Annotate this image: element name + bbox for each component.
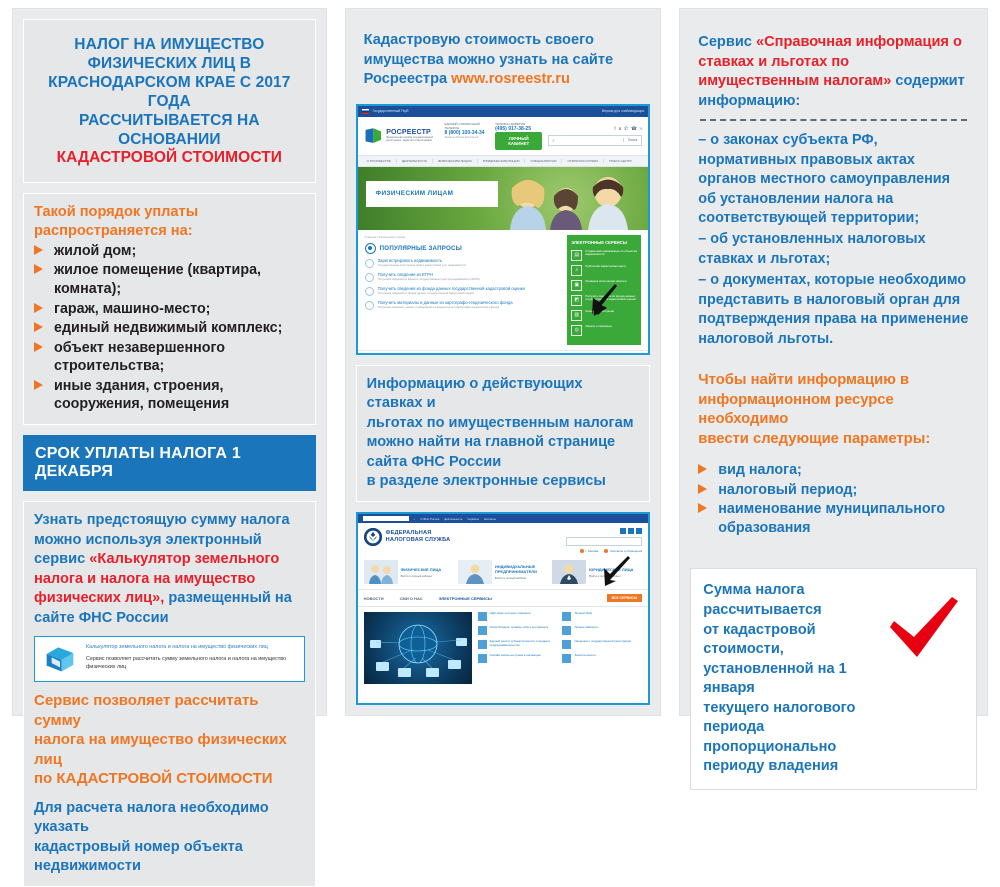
rosreestr-intro-line-3: Росреестра www.rosreestr.ru — [364, 70, 643, 90]
fns-top-link[interactable]: Контакты — [484, 517, 496, 521]
params-list: вид налога; налоговый период; наименован… — [698, 461, 969, 537]
hero-title: ФИЗИЧЕСКИМ ЛИЦАМ — [376, 190, 454, 197]
region-link[interactable]: г. Москва — [580, 549, 599, 553]
brochure-page: НАЛОГ НА ИМУЩЕСТВО ФИЗИЧЕСКИХ ЛИЦ В КРАС… — [0, 0, 1000, 724]
service-label: Заплати налоги — [574, 654, 595, 663]
popular-queries-section: Главная / Физическим лицам ПОПУЛЯРНЫЕ ЗА… — [365, 235, 562, 345]
list-item-label: единый недвижимый комплекс; — [54, 320, 282, 336]
params-heading-line-2: информационном ресурсе необходимо — [698, 391, 969, 430]
arrow-bullet-icon — [34, 245, 43, 255]
fns-top-link[interactable]: ⌕ — [414, 517, 416, 521]
calculator-panel: Узнать предстоящую сумму налога можно ис… — [23, 501, 316, 887]
accessibility-link[interactable]: Версия для слабовидящих — [602, 109, 644, 113]
service-item[interactable]: ▤Справочная информация по объектам недви… — [571, 250, 637, 261]
fns-intro: Информацию о действующих ставках и льгот… — [367, 375, 640, 492]
summary-line-5: пропорционально периоду владения — [703, 738, 899, 777]
rosreestr-header: РОСРЕЕСТР Федеральная служба государстве… — [358, 117, 649, 155]
vk-icon[interactable]: в — [619, 126, 621, 131]
service-item[interactable]: ⌕Публичная кадастровая карта — [571, 265, 637, 276]
marker-icon — [580, 549, 584, 553]
service-item[interactable]: Сведения о государственной регистрации — [562, 640, 642, 649]
situations-icon: ▥ — [571, 310, 582, 321]
list-item: – о документах, которые необходимо предс… — [698, 271, 969, 349]
calculator-widget[interactable]: Калькулятор земельного налога и налога н… — [34, 636, 305, 682]
scope-list: жилой дом; жилое помещение (квартира, ко… — [34, 242, 305, 414]
personal-cabinet-button[interactable]: ЛИЧНЫЙ КАБИНЕТ — [495, 132, 542, 150]
target-icon — [365, 243, 376, 254]
fns-top-link[interactable]: Деятельность — [444, 517, 462, 521]
list-item[interactable]: Зарегистрировать недвижимость Государств… — [365, 258, 562, 268]
nav-item[interactable]: ФИЗИЧЕСКИМ ЛИЦАМ — [433, 159, 478, 163]
database-icon: ◩ — [571, 295, 582, 306]
fns-top-link[interactable]: О ФНС России — [420, 517, 439, 521]
nav-item[interactable]: ПРЕСС-ЦЕНТР — [604, 159, 636, 163]
service-info-panel: Сервис «Справочная информация о ставках … — [690, 19, 977, 351]
phone-1-note: Звонок по России бесплатный — [445, 136, 488, 139]
red-checkmark-icon — [884, 597, 962, 659]
list-item[interactable]: Получить материалы и данные из картограф… — [365, 300, 562, 310]
service-label: Справочная информация по объектам недвиж… — [585, 250, 637, 257]
popular-item-desc: Государственная регистрация прав и кадас… — [378, 264, 466, 268]
arrow-bullet-icon — [34, 264, 43, 274]
category-entrepreneurs[interactable]: ИНДИВИДУАЛЬНЫЕ ПРЕДПРИНИМАТЕЛИ Войти в л… — [458, 560, 548, 584]
pointer-arrow-icon — [590, 284, 620, 318]
right-column: Сервис «Справочная информация о ставках … — [679, 8, 988, 716]
entrepreneurs-photo — [458, 560, 492, 584]
list-item: – об установленных налоговых ставках и л… — [698, 230, 969, 269]
service-item[interactable]: Личный ИНН — [562, 612, 642, 621]
category-name: ИНДИВИДУАЛЬНЫЕ ПРЕДПРИНИМАТЕЛИ — [495, 564, 548, 574]
category-name: ФИЗИЧЕСКИЕ ЛИЦА — [401, 567, 442, 572]
category-link[interactable]: Войти в личный кабинет — [495, 576, 548, 580]
arrow-bullet-icon — [34, 380, 43, 390]
calculator-intro: Узнать предстоящую сумму налога можно ис… — [34, 511, 305, 628]
fns-services-grid: НДС-офис интернет компании Риски бизнеса… — [478, 612, 643, 684]
rosreestr-intro-panel: Кадастровую стоимость своего имущества м… — [356, 19, 651, 94]
cadastral-note-line-1: Для расчета налога необходимо указать — [34, 799, 305, 838]
list-item-label: жилой дом; — [54, 243, 136, 259]
twitter-icon[interactable] — [636, 528, 642, 534]
list-item: вид налога; — [698, 461, 969, 480]
nav-item[interactable]: СПЕЦИАЛИСТАМ — [525, 159, 562, 163]
service-label: Онлайн запись на прием в инспекцию — [490, 654, 541, 663]
fns-tabs[interactable]: НОВОСТИ СМИ О НАС ЭЛЕКТРОННЫЕ СЕРВИСЫ ВС… — [358, 589, 649, 607]
popular-item-desc: Получение сведений из фонда данных госуд… — [378, 292, 525, 296]
rosreestr-website-screenshot[interactable]: Государственный Герб Версия для слабовид… — [356, 104, 651, 355]
search-button[interactable]: Поиск — [623, 138, 641, 142]
list-item-label: гараж, машино-место; — [54, 301, 210, 317]
popular-item-title: Получить сведения из фонда данных госуда… — [378, 286, 525, 291]
category-individuals[interactable]: ФИЗИЧЕСКИЕ ЛИЦА Войти в личный кабинет — [364, 560, 454, 584]
all-services-button[interactable]: ВСЕ СЕРВИСЫ — [607, 594, 643, 602]
hero-title-card: ФИЗИЧЕСКИМ ЛИЦАМ — [366, 181, 498, 207]
service-label: НДС-офис интернет компании — [490, 612, 531, 621]
appointment-icon — [478, 654, 487, 663]
phone-1-number: 8 (800) 100-34-34 — [445, 130, 488, 136]
fns-topbar: ⌕ О ФНС России Деятельность Сервисы Конт… — [358, 514, 649, 523]
rosreestr-footer — [358, 350, 649, 355]
document-check-icon: ▣ — [571, 280, 582, 291]
rosreestr-phone-2: ТЕЛЕФОН ДОВЕРИЯ (495) 917-38-25 ЛИЧНЫЙ К… — [495, 122, 542, 150]
pay-taxes-icon — [562, 654, 571, 663]
calculator-widget-description: Сервис позволяет рассчитать сумму земель… — [86, 656, 296, 672]
phone-1-label: ЕДИНЫЙ СПРАВОЧНЫЙ ТЕЛЕФОН — [445, 122, 488, 130]
list-item-label: жилое помещение (квартира, комната); — [54, 262, 261, 297]
fns-top-link[interactable]: Сервисы — [467, 517, 479, 521]
fns-intro-line-2: льготах по имущественным налогам — [367, 414, 640, 434]
family-photo — [492, 168, 642, 230]
title-line-4: РАССЧИТЫВАЕТСЯ НА ОСНОВАНИИ — [36, 112, 303, 150]
rosreestr-search[interactable]: ⌕ Поиск — [548, 135, 642, 146]
legal-entities-photo — [552, 560, 586, 584]
list-item[interactable]: Получить сведения из фонда данных госуда… — [365, 286, 562, 296]
list-item-label: объект незавершенного строительства; — [54, 340, 225, 375]
calculator-note: Сервис позволяет рассчитать сумму налога… — [34, 691, 305, 789]
params-heading: Чтобы найти информацию в информационном … — [698, 371, 969, 449]
service-item[interactable]: Риски бизнеса: проверь себя и контрагент… — [478, 626, 558, 635]
fns-crest-icon — [364, 528, 382, 546]
fns-logo-line-1: ФЕДЕРАЛЬНАЯ — [386, 530, 451, 537]
facebook-icon[interactable]: f — [614, 126, 615, 131]
popular-queries-heading: ПОПУЛЯРНЫЕ ЗАПРОСЫ — [365, 243, 562, 254]
arrow-bullet-icon — [698, 484, 707, 494]
nav-item[interactable]: ДЕЯТЕЛЬНОСТЬ — [397, 159, 433, 163]
rosreestr-logo-subtitle: Федеральная служба государственной регис… — [386, 136, 438, 142]
rosreestr-header-right: f в ✆ ☎ ≈ ⌕ Поиск — [548, 126, 642, 146]
category-link[interactable]: Войти в личный кабинет — [401, 574, 442, 578]
chevron-icon — [365, 287, 374, 296]
calculator-widget-texts: Калькулятор земельного налога и налога н… — [86, 644, 296, 671]
scope-panel: Такой порядок уплаты распространяется на… — [23, 193, 316, 425]
nds-office-icon — [478, 612, 487, 621]
list-item[interactable]: Получить сведения из ЕГРН Получение свед… — [365, 272, 562, 282]
list-item: жилое помещение (квартира, комната); — [34, 261, 305, 298]
globe-network-graphic — [364, 612, 472, 684]
popular-item-desc: Получение сведений из Единого государств… — [378, 278, 480, 282]
left-column: НАЛОГ НА ИМУЩЕСТВО ФИЗИЧЕСКИХ ЛИЦ В КРАС… — [12, 8, 327, 716]
service-label: Публичная кадастровая карта — [585, 265, 626, 269]
rss-icon[interactable]: ≈ — [640, 126, 643, 131]
russian-flag-icon — [362, 109, 369, 114]
rosreestr-intro-line-1: Кадастровую стоимость своего — [364, 31, 643, 51]
search-icon: ⌕ — [549, 138, 558, 143]
fns-intro-line-3: можно найти на главной странице — [367, 433, 640, 453]
summary-box: Сумма налога рассчитывается от кадастров… — [690, 568, 977, 789]
page-title: НАЛОГ НА ИМУЩЕСТВО ФИЗИЧЕСКИХ ЛИЦ В КРАС… — [36, 36, 303, 168]
title-line-2: ФИЗИЧЕСКИХ ЛИЦ В — [36, 55, 303, 74]
tab-news[interactable]: НОВОСТИ — [364, 596, 384, 601]
calculator-cube-icon — [43, 644, 77, 674]
arrow-bullet-icon — [34, 342, 43, 352]
book-icon: ▤ — [571, 250, 582, 261]
list-item: жилой дом; — [34, 242, 305, 261]
rosreestr-phone-1: ЕДИНЫЙ СПРАВОЧНЫЙ ТЕЛЕФОН 8 (800) 100-34… — [445, 122, 488, 150]
inn-icon — [562, 612, 571, 621]
list-item: гараж, машино-место; — [34, 300, 305, 319]
fns-content: НДС-офис интернет компании Риски бизнеса… — [358, 607, 649, 689]
services-column-left: НДС-офис интернет компании Риски бизнеса… — [478, 612, 558, 684]
title-line-1: НАЛОГ НА ИМУЩЕСТВО — [36, 36, 303, 55]
rosreestr-logo[interactable]: РОСРЕЕСТР Федеральная служба государстве… — [364, 126, 439, 146]
facebook-icon[interactable] — [628, 528, 634, 534]
title-highlight: КАДАСТРОВОЙ СТОИМОСТИ — [36, 149, 303, 168]
cadastral-note-line-2: кадастровый номер объекта недвижимости — [34, 838, 305, 877]
popular-item-title: Зарегистрировать недвижимость — [378, 258, 466, 263]
contacts-label: Контакты и обращения — [610, 549, 642, 553]
contacts-icon — [604, 549, 608, 553]
breadcrumb: Главная / Физическим лицам — [365, 235, 562, 239]
rosreestr-topbar: Государственный Герб Версия для слабовид… — [358, 106, 649, 117]
risk-check-icon — [478, 626, 487, 635]
service-label: Риски бизнеса: проверь себя и контрагент… — [490, 626, 548, 635]
search-params-panel: Чтобы найти информацию в информационном … — [690, 361, 977, 548]
services-column-right: Личный ИНН Личные кабинеты Сведения о го… — [562, 612, 642, 684]
nav-item[interactable]: ЮРИДИЧЕСКИМ ЛИЦАМ — [478, 159, 526, 163]
cadastral-note: Для расчета налога необходимо указать ка… — [34, 799, 305, 877]
info-items-list: – о законах субъекта РФ, нормативных пра… — [698, 131, 969, 349]
popular-queries-title: ПОПУЛЯРНЫЕ ЗАПРОСЫ — [380, 245, 462, 252]
rosreestr-label: Росреестра — [364, 71, 452, 87]
service-item[interactable]: Личные кабинеты — [562, 626, 642, 635]
summary-line-4: текущего налогового периода — [703, 699, 899, 738]
fns-logo-text: ФЕДЕРАЛЬНАЯ НАЛОГОВАЯ СЛУЖБА — [386, 530, 451, 545]
fns-search-input[interactable] — [566, 537, 642, 546]
fns-social-icons[interactable] — [620, 528, 642, 534]
fns-logo[interactable]: ФЕДЕРАЛЬНАЯ НАЛОГОВАЯ СЛУЖБА — [364, 528, 451, 546]
phone-icon[interactable]: ☎ — [631, 126, 637, 132]
fns-intro-line-1: Информацию о действующих ставках и — [367, 375, 640, 414]
dashed-divider — [700, 119, 967, 121]
service-intro-prefix: Сервис — [698, 34, 756, 50]
fns-intro-panel: Информацию о действующих ставках и льгот… — [356, 365, 651, 502]
chevron-icon — [365, 301, 374, 310]
service-item[interactable]: Онлайн запись на прием в инспекцию — [478, 654, 558, 663]
list-item-label: вид налога; — [718, 462, 802, 478]
title-line-3: КРАСНОДАРСКОМ КРАЕ С 2017 ГОДА — [36, 74, 303, 112]
scope-intro: Такой порядок уплаты распространяется на… — [34, 203, 305, 239]
list-item-label: иные здания, строения, сооружения, помещ… — [54, 378, 229, 413]
eagle-emblem-icon — [364, 528, 382, 546]
pointer-arrow-icon — [602, 556, 632, 588]
list-item: единый недвижимый комплекс; — [34, 319, 305, 338]
rosreestr-topbar-label: Государственный Герб — [373, 109, 409, 113]
service-item[interactable]: Единый реестр субъектов малого и среднег… — [478, 640, 558, 649]
list-item: налоговый период; — [698, 481, 969, 500]
service-label: Единый реестр субъектов малого и среднег… — [490, 640, 558, 649]
tab-electronic-services[interactable]: ЭЛЕКТРОННЫЕ СЕРВИСЫ — [439, 596, 492, 601]
service-label: Личный ИНН — [574, 612, 591, 621]
nav-item[interactable]: О РОСРЕЕСТРЕ — [362, 159, 397, 163]
office-icon: ◎ — [571, 325, 582, 336]
nav-item[interactable]: ОТКРЫТАЯ СЛУЖБА — [562, 159, 604, 163]
region-label: г. Москва — [586, 549, 599, 553]
service-label: Сведения о государственной регистрации — [574, 640, 631, 649]
phone-2-number: (495) 917-38-25 — [495, 126, 542, 132]
rosreestr-nav[interactable]: О РОСРЕЕСТРЕ ДЕЯТЕЛЬНОСТЬ ФИЗИЧЕСКИМ ЛИЦ… — [358, 155, 649, 167]
individuals-photo — [364, 560, 398, 584]
summary-line-1: Сумма налога рассчитывается — [703, 581, 899, 620]
service-label: Офисы и приемные — [585, 325, 612, 329]
middle-column: Кадастровую стоимость своего имущества м… — [345, 8, 662, 716]
popular-item-title: Получить материалы и данные из картограф… — [378, 300, 513, 305]
fns-quick-links[interactable]: г. Москва Контакты и обращения — [580, 549, 643, 553]
popular-item-title: Получить сведения из ЕГРН — [378, 272, 480, 277]
rosreestr-phones: ЕДИНЫЙ СПРАВОЧНЫЙ ТЕЛЕФОН 8 (800) 100-34… — [445, 122, 543, 150]
summary-text: Сумма налога рассчитывается от кадастров… — [703, 581, 899, 776]
params-heading-line-3: ввести следующие параметры: — [698, 430, 969, 450]
rosreestr-logo-text: РОСРЕЕСТР — [386, 129, 438, 136]
social-icons[interactable]: f в ✆ ☎ ≈ — [614, 126, 642, 132]
arrow-bullet-icon — [34, 303, 43, 313]
summary-line-2: от кадастровой стоимости, — [703, 621, 899, 660]
fns-intro-line-4: сайта ФНС России — [367, 453, 640, 473]
fns-top-search[interactable] — [363, 516, 409, 521]
service-item[interactable]: ◎Офисы и приемные — [571, 325, 637, 336]
chevron-icon — [365, 273, 374, 282]
rosreestr-hero: ФИЗИЧЕСКИМ ЛИЦАМ — [358, 167, 649, 230]
list-item: иные здания, строения, сооружения, помещ… — [34, 377, 305, 414]
arrow-bullet-icon — [34, 322, 43, 332]
arrow-bullet-icon — [698, 503, 707, 513]
fns-logo-line-2: НАЛОГОВАЯ СЛУЖБА — [386, 537, 451, 544]
registration-icon — [562, 640, 571, 649]
fns-intro-line-5: в разделе электронные сервисы — [367, 472, 640, 492]
deadline-banner: СРОК УПЛАТЫ НАЛОГА 1 ДЕКАБРЯ — [23, 435, 316, 491]
service-label: Личные кабинеты — [574, 626, 598, 635]
vk-icon[interactable] — [620, 528, 626, 534]
main-header-panel: НАЛОГ НА ИМУЩЕСТВО ФИЗИЧЕСКИХ ЛИЦ В КРАС… — [23, 19, 316, 183]
arrow-bullet-icon — [698, 464, 707, 474]
calc-note-line-1: Сервис позволяет рассчитать сумму — [34, 691, 305, 730]
chevron-icon — [365, 259, 374, 268]
service-item[interactable]: Заплати налоги — [562, 654, 642, 663]
calc-note-line-2: налога на имущество физических лиц — [34, 730, 305, 769]
rosreestr-intro: Кадастровую стоимость своего имущества м… — [364, 31, 643, 90]
rosreestr-logo-icon — [364, 126, 383, 146]
rosreestr-url[interactable]: www.rosreestr.ru — [451, 71, 570, 87]
fns-website-screenshot[interactable]: ⌕ О ФНС России Деятельность Сервисы Конт… — [356, 512, 651, 705]
rosreestr-intro-line-2: имущества можно узнать на сайте — [364, 51, 643, 71]
summary-line-3: установленной на 1 января — [703, 660, 899, 699]
popular-item-desc: Получение сведений, данных и материалов … — [378, 306, 513, 310]
cabinet-icon — [562, 626, 571, 635]
twitter-icon[interactable]: ✆ — [624, 126, 628, 132]
registry-icon — [478, 640, 487, 649]
fns-header: ФЕДЕРАЛЬНАЯ НАЛОГОВАЯ СЛУЖБА г. Москва К… — [358, 523, 649, 558]
fns-header-right: г. Москва Контакты и обращения — [566, 528, 642, 553]
list-item: наименование муниципального образования — [698, 500, 969, 537]
list-item-label: налоговый период; — [718, 482, 857, 498]
calculator-widget-title: Калькулятор земельного налога и налога н… — [86, 644, 296, 652]
contacts-link[interactable]: Контакты и обращения — [604, 549, 642, 553]
list-item-label: наименование муниципального образования — [718, 501, 945, 536]
service-item[interactable]: НДС-офис интернет компании — [478, 612, 558, 621]
magnifier-icon: ⌕ — [571, 265, 582, 276]
calc-note-line-3: по КАДАСТРОВОЙ СТОИМОСТИ — [34, 769, 305, 789]
list-item: объект незавершенного строительства; — [34, 339, 305, 376]
network-globe-image — [364, 612, 472, 684]
params-heading-line-1: Чтобы найти информацию в — [698, 371, 969, 391]
tab-media[interactable]: СМИ О НАС — [400, 596, 423, 601]
service-intro: Сервис «Справочная информация о ставках … — [698, 33, 969, 111]
list-item: – о законах субъекта РФ, нормативных пра… — [698, 131, 969, 228]
electronic-services-title: ЭЛЕКТРОННЫЕ СЕРВИСЫ — [571, 240, 637, 245]
